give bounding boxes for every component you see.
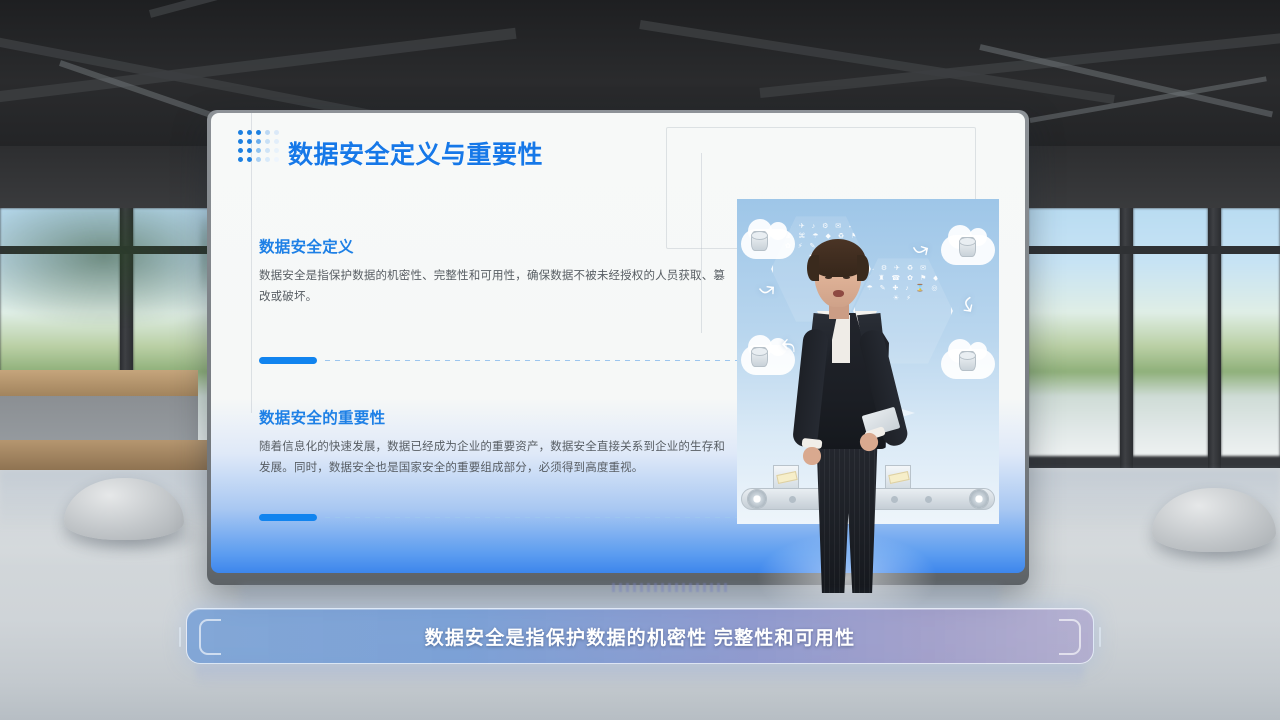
cog-icon (969, 489, 989, 509)
avatar-hand-left (803, 447, 821, 465)
virtual-studio-stage: 数据安全定义与重要性 数据安全定义 数据安全是指保护数据的机密性、完整性和可用性… (0, 0, 1280, 720)
divider-accent-bar (259, 514, 317, 521)
ceiling-beam (149, 0, 653, 18)
tick-right-decoration (1099, 627, 1101, 647)
section-heading: 数据安全的重要性 (259, 406, 729, 428)
cog-icon (747, 489, 767, 509)
wood-bench (0, 370, 198, 396)
subtitle-text: 数据安全是指保护数据的机密性 完整性和可用性 (187, 609, 1093, 663)
conveyor-roller (925, 496, 932, 503)
section-divider (259, 514, 737, 521)
subtitle-bar: 数据安全是指保护数据的机密性 完整性和可用性 (186, 608, 1094, 664)
section-body: 数据安全是指保护数据的机密性、完整性和可用性，确保数据不被未经授权的人员获取、篡… (259, 266, 729, 308)
arrow-icon: ⤷ (955, 291, 985, 318)
avatar-mouth (833, 290, 844, 297)
divider-dashed-line (325, 517, 737, 518)
section-definition: 数据安全定义 数据安全是指保护数据的机密性、完整性和可用性，确保数据不被未经授权… (259, 235, 729, 308)
database-icon (959, 351, 976, 371)
ai-digital-human-presenter (772, 233, 922, 593)
avatar-hair (810, 239, 866, 277)
database-icon (751, 231, 768, 251)
database-icon (959, 237, 976, 257)
tick-left-decoration (179, 627, 181, 647)
page-title: 数据安全定义与重要性 (288, 135, 543, 171)
divider-accent-bar (259, 357, 317, 364)
avatar-legs (814, 445, 880, 593)
database-icon (751, 347, 768, 367)
section-importance: 数据安全的重要性 随着信息化的快速发展，数据已经成为企业的重要资产，数据安全直接… (259, 406, 729, 479)
section-divider (259, 357, 737, 364)
divider-dashed-line (325, 360, 737, 361)
wood-plinth (0, 440, 210, 470)
section-heading: 数据安全定义 (259, 235, 729, 257)
section-body: 随着信息化的快速发展，数据已经成为企业的重要资产，数据安全直接关系到企业的生存和… (259, 437, 729, 479)
dot-grid-icon (238, 130, 283, 166)
